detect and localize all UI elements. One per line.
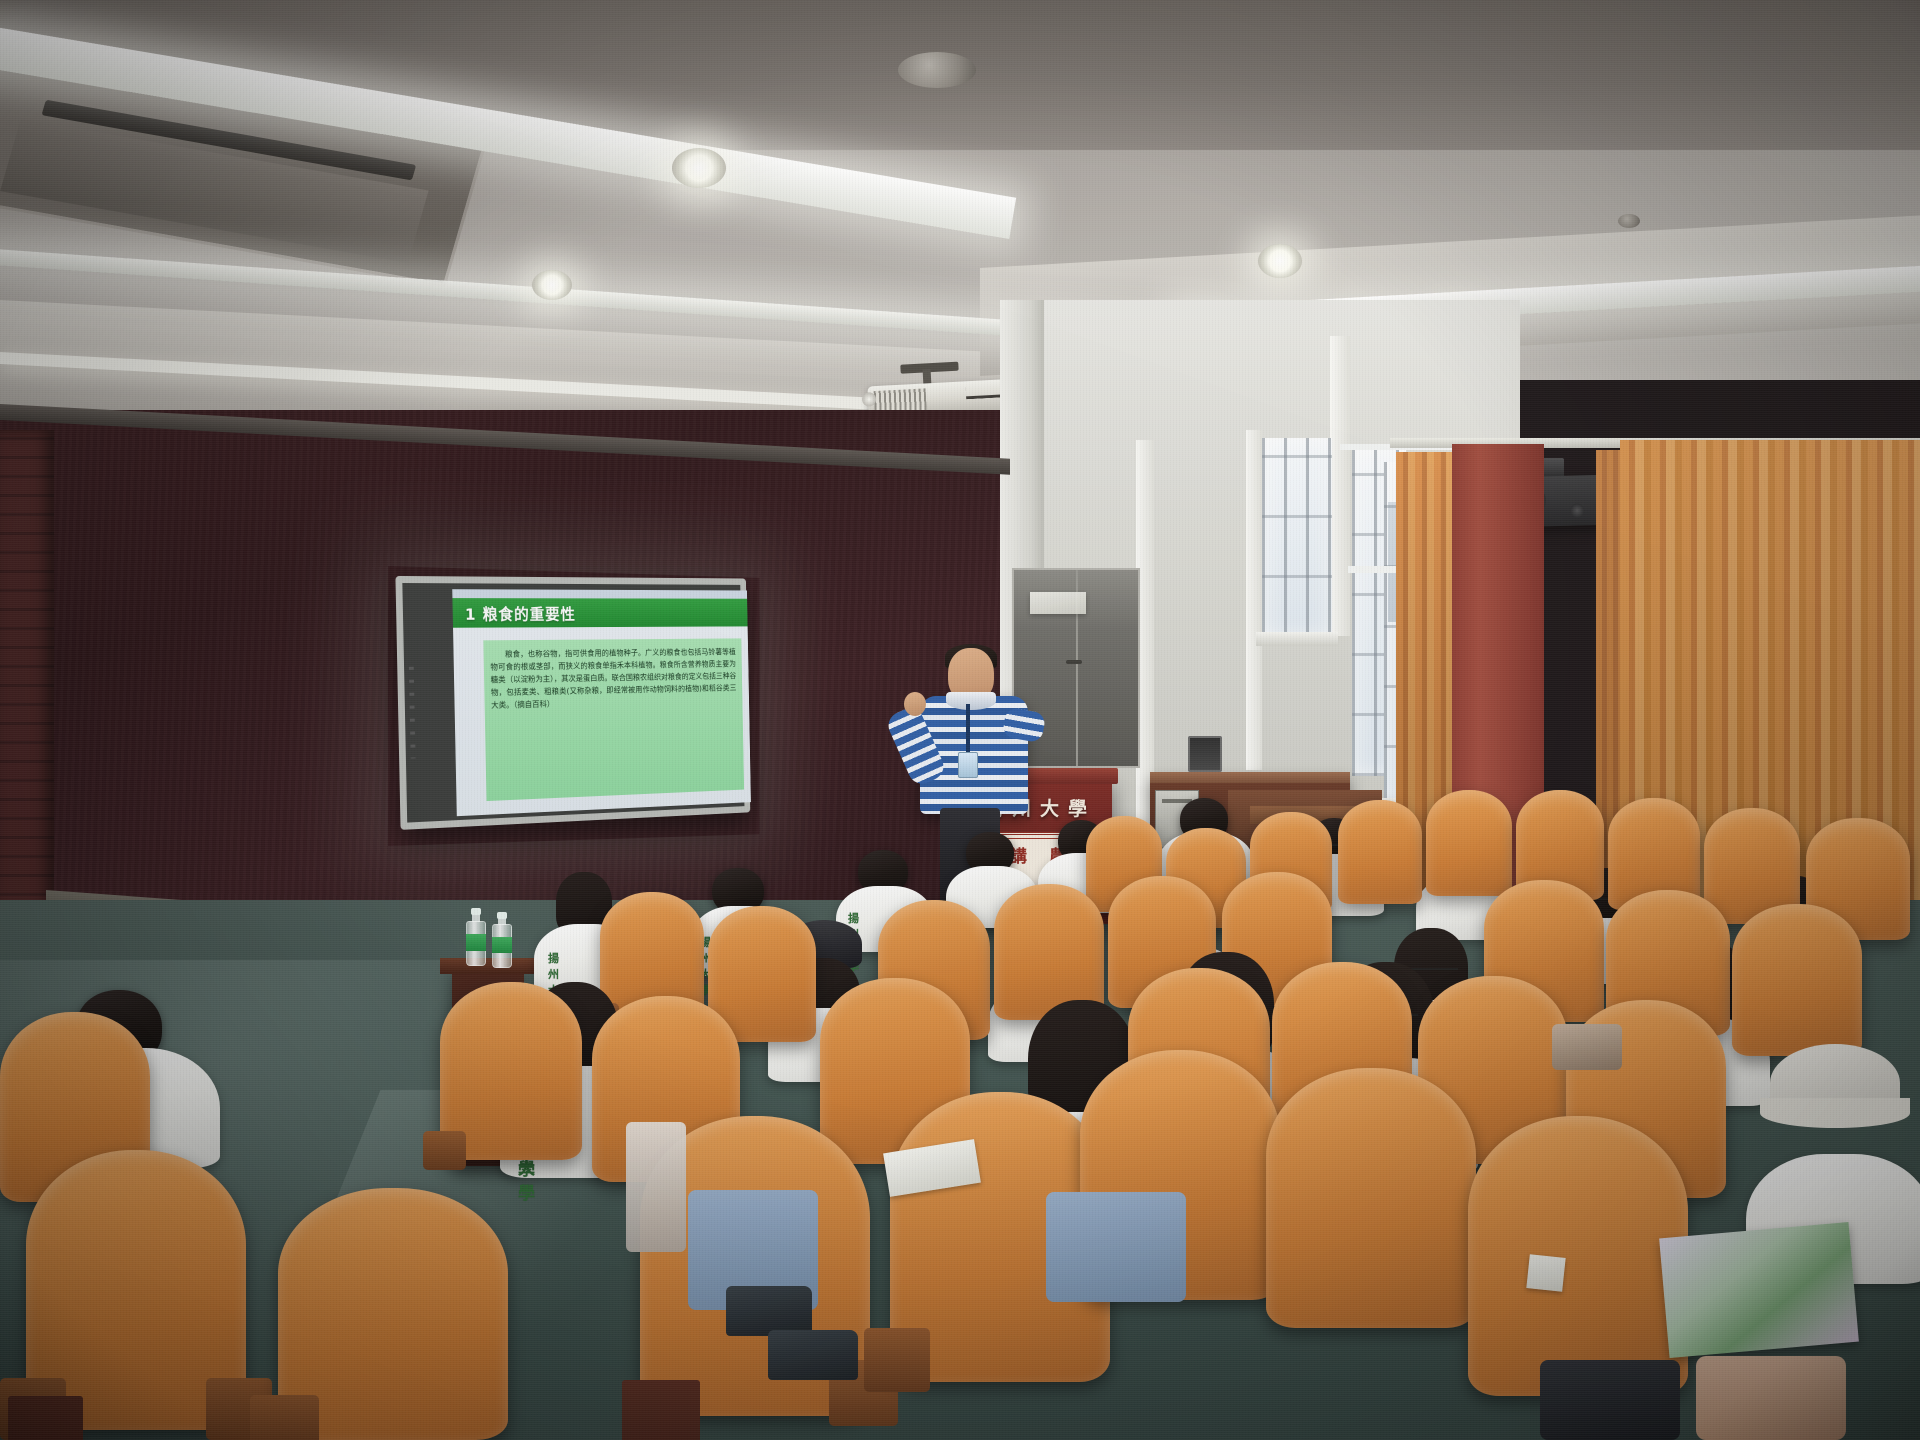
- notice-paper: [1030, 592, 1086, 614]
- slide-title: 1 粮食的重要性: [452, 598, 747, 628]
- foreground-arm: [1696, 1356, 1846, 1440]
- auditorium-seat[interactable]: [26, 1150, 246, 1430]
- wall-column-trim: [1330, 336, 1350, 636]
- presenter-collar: [946, 692, 996, 710]
- slide-canvas: 1 粮食的重要性 粮食，也称谷物，指可供食用的植物种子。广义的粮食也包括马铃薯等…: [452, 589, 751, 816]
- downlight-icon: [672, 148, 726, 188]
- shoe: [768, 1330, 858, 1380]
- auditorium-seat[interactable]: [278, 1188, 508, 1440]
- screen-bezel-buttons[interactable]: [409, 667, 416, 759]
- auditorium-seat[interactable]: [440, 982, 582, 1160]
- presenter-name-badge: [958, 752, 978, 778]
- auditorium-seat[interactable]: [1338, 800, 1422, 904]
- brick-pier: [0, 430, 54, 950]
- downlight-icon: [1258, 244, 1302, 278]
- lecture-hall-scene: 1 粮食的重要性 粮食，也称谷物，指可供食用的植物种子。广义的粮食也包括马铃薯等…: [0, 0, 1920, 1440]
- presentation-screen[interactable]: 1 粮食的重要性 粮食，也称谷物，指可供食用的植物种子。广义的粮食也包括马铃薯等…: [395, 576, 750, 830]
- presenter-lanyard: [966, 704, 970, 756]
- ceiling-sensor-dome: [1618, 214, 1640, 228]
- water-bottle-icon[interactable]: [466, 908, 486, 966]
- slide-content-box: 粮食，也称谷物，指可供食用的植物种子。广义的粮食也包括马铃薯等植物可食的根或茎部…: [483, 638, 744, 801]
- side-desk-top: [440, 958, 536, 974]
- window-icon: [1262, 438, 1332, 638]
- downlight-icon: [532, 270, 572, 300]
- slide-body-text: 粮食，也称谷物，指可供食用的植物种子。广义的粮食也包括马铃薯等植物可食的根或茎部…: [490, 646, 737, 712]
- auditorium-seat[interactable]: [1468, 1116, 1688, 1396]
- window-sill: [1256, 632, 1338, 646]
- wall-column-trim: [1246, 430, 1262, 770]
- foreground-dark-object: [1540, 1360, 1680, 1440]
- bag: [1552, 1024, 1622, 1070]
- water-bottle-icon[interactable]: [492, 912, 512, 968]
- auditorium-seat[interactable]: [1732, 904, 1862, 1056]
- ceiling-speaker-dome: [898, 52, 976, 88]
- handout-paper[interactable]: [1526, 1254, 1565, 1292]
- presenter-left-hand: [904, 692, 926, 716]
- monitor-icon: [1188, 736, 1222, 772]
- magazine[interactable]: [1659, 1222, 1859, 1358]
- shoe: [726, 1286, 812, 1336]
- auditorium-seat[interactable]: [1266, 1068, 1476, 1328]
- bag: [626, 1122, 686, 1252]
- seated-legs-jeans: [1046, 1192, 1186, 1302]
